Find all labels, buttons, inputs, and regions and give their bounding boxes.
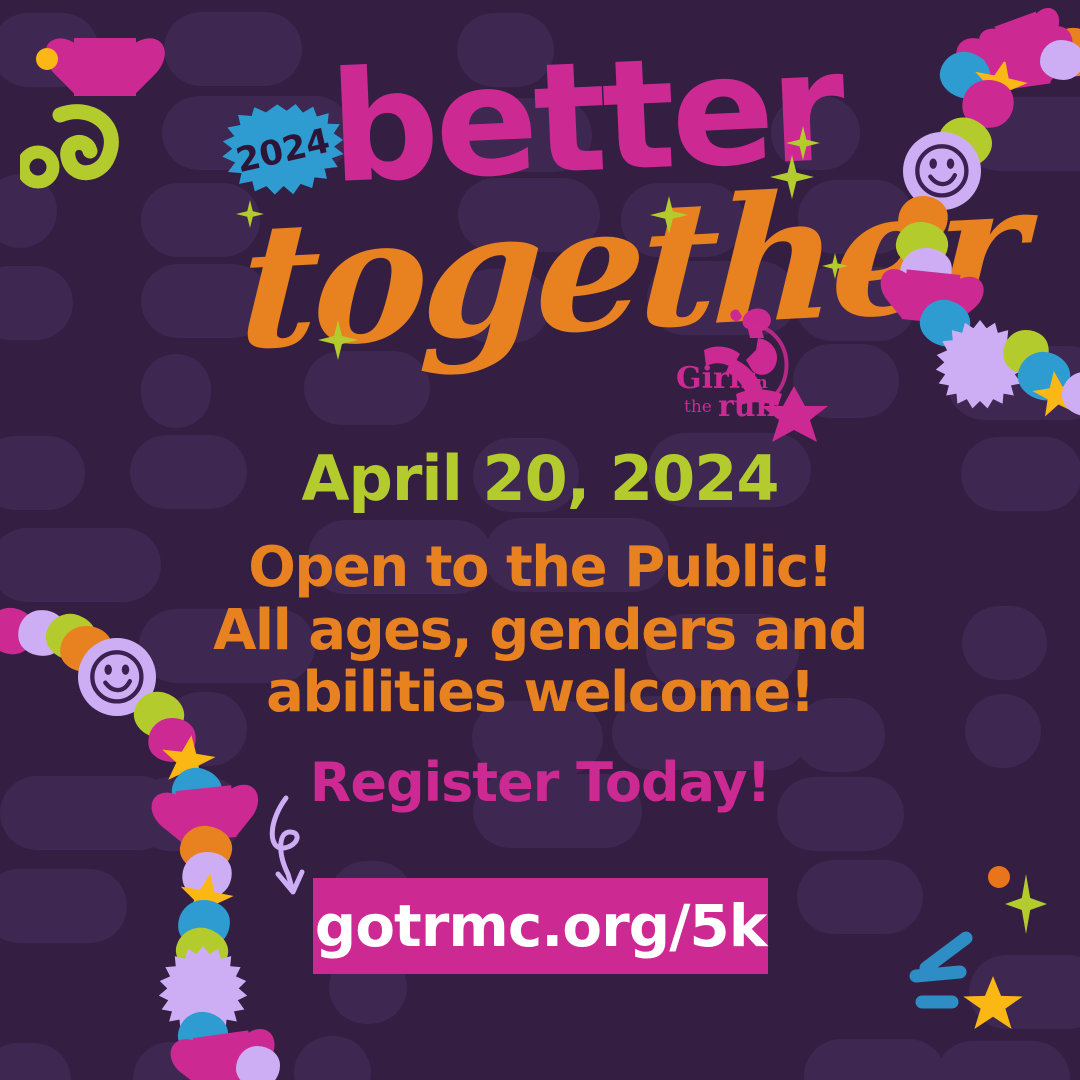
- background-pill: [935, 1041, 1070, 1080]
- register-cta: Register Today!: [0, 751, 1080, 814]
- background-pill: [0, 266, 73, 340]
- yellow-dot-decoration: [36, 48, 58, 70]
- blurb-line: All ages, genders and: [0, 600, 1080, 663]
- blue-motion-lines-icon: [908, 930, 988, 1030]
- logo-word-the: the: [684, 397, 712, 417]
- background-pill: [141, 354, 211, 428]
- year-badge: 2024: [217, 97, 350, 205]
- background-pill: [0, 869, 127, 943]
- girls-on-the-run-logo: Girls on the run 5K 5K: [672, 302, 832, 442]
- poster-copy: April 20, 2024 Open to the Public! All a…: [0, 442, 1080, 814]
- blurb-text: Open to the Public! All ages, genders an…: [0, 537, 1080, 725]
- blurb-line: abilities welcome!: [0, 662, 1080, 725]
- event-date: April 20, 2024: [0, 442, 1080, 515]
- background-pill: [0, 1043, 71, 1080]
- background-pill: [797, 860, 923, 934]
- orange-dot-decoration: [988, 866, 1010, 888]
- pink-heart-decoration: [74, 38, 136, 96]
- round-bead: [975, 58, 985, 68]
- five-k-text: 5K: [777, 408, 812, 434]
- url-label: gotrmc.org/5k: [315, 892, 767, 960]
- background-pill: [804, 1039, 946, 1080]
- blurb-line: Open to the Public!: [0, 537, 1080, 600]
- round-bead: [1040, 40, 1080, 80]
- background-pill: [294, 1036, 371, 1080]
- round-bead: [236, 1046, 280, 1080]
- url-button[interactable]: gotrmc.org/5k: [313, 878, 768, 974]
- lime-swirl-decoration: [20, 95, 140, 190]
- promo-poster: 2024 better together Girls on the run: [0, 0, 1080, 1080]
- background-pill: [164, 12, 302, 86]
